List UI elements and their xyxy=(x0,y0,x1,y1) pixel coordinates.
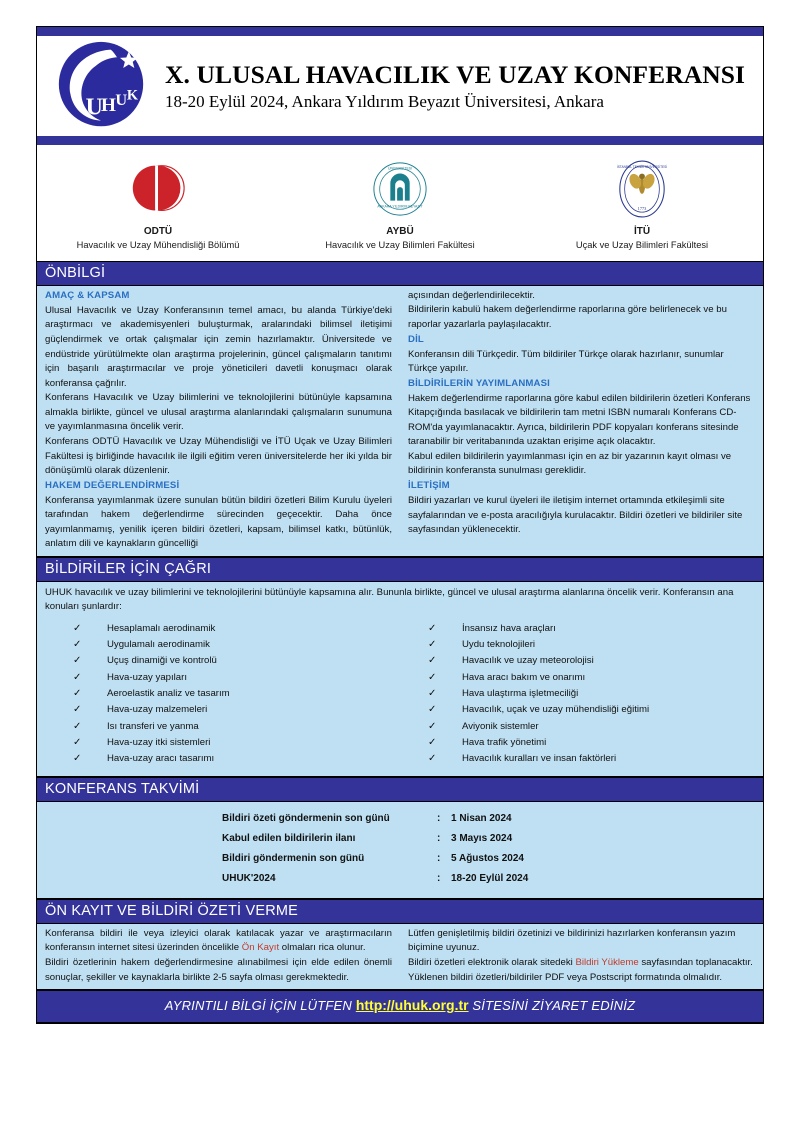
registration-panel: Konferansa bildiri ile veya izleyici ola… xyxy=(37,924,763,990)
masthead-text: X. ULUSAL HAVACILIK VE UZAY KONFERANSI 1… xyxy=(165,60,765,113)
check-icon: ✓ xyxy=(73,719,107,735)
subhead-hakem-degerlendirmesi: HAKEM DEĞERLENDİRMESİ xyxy=(45,479,392,493)
subhead-amac-kapsam: AMAÇ & KAPSAM xyxy=(45,289,392,303)
svg-text:ÜNİVERSİTESİ: ÜNİVERSİTESİ xyxy=(388,166,412,171)
list-item: ✓Uygulamalı aerodinamik xyxy=(73,637,400,653)
svg-text:ANKARA YILDIRIM BEYAZIT: ANKARA YILDIRIM BEYAZIT xyxy=(377,204,423,208)
list-item: ✓Aeroelastik analiz ve tasarım xyxy=(73,686,400,702)
check-icon: ✓ xyxy=(428,751,462,767)
list-item: ✓Hava-uzay itki sistemleri xyxy=(73,735,400,751)
topic-label: Isı transferi ve yanma xyxy=(107,719,199,735)
calendar-colon: : xyxy=(437,813,451,825)
aybu-logo: ANKARA YILDIRIM BEYAZIT ÜNİVERSİTESİ xyxy=(371,158,429,220)
check-icon: ✓ xyxy=(73,621,107,637)
sponsor-aybu: ANKARA YILDIRIM BEYAZIT ÜNİVERSİTESİ AYB… xyxy=(279,158,521,251)
check-icon: ✓ xyxy=(428,702,462,718)
sponsor-desc: Uçak ve Uzay Bilimleri Fakültesi xyxy=(576,239,708,251)
poster-frame: U H U K X. ULUSAL HAVACILIK VE UZAY KONF… xyxy=(36,26,764,1024)
sponsor-abbr: AYBÜ xyxy=(386,226,413,239)
sub-text-a: Bildiri özetleri elektronik olarak sited… xyxy=(408,957,575,968)
check-icon: ✓ xyxy=(428,719,462,735)
check-icon: ✓ xyxy=(73,653,107,669)
yayim-paragraph-2: Kabul edilen bildirilerin yayımlanması i… xyxy=(408,450,755,479)
svg-text:İSTANBUL TEKNİK ÜNİVERSİTESİ: İSTANBUL TEKNİK ÜNİVERSİTESİ xyxy=(617,164,667,169)
calendar-colon: : xyxy=(437,833,451,845)
table-row: Bildiri göndermenin son günü : 5 Ağustos… xyxy=(37,849,763,869)
topic-label: İnsansız hava araçları xyxy=(462,621,556,637)
section-header-registration: ÖN KAYIT VE BİLDİRİ ÖZETİ VERME xyxy=(37,899,763,924)
cfp-topics-right: ✓İnsansız hava araçları ✓Uydu teknolojil… xyxy=(400,621,755,768)
sponsor-itu: 1773 İSTANBUL TEKNİK ÜNİVERSİTESİ İTÜ Uç… xyxy=(521,158,763,251)
footer-suffix: SİTESİNİ ZİYARET EDİNİZ xyxy=(469,998,636,1013)
table-row: Kabul edilen bildirilerin ilanı : 3 Mayı… xyxy=(37,829,763,849)
topic-label: Aviyonik sistemler xyxy=(462,719,539,735)
check-icon: ✓ xyxy=(73,670,107,686)
check-icon: ✓ xyxy=(428,735,462,751)
topic-label: Hava aracı bakım ve onarımı xyxy=(462,670,585,686)
cfp-topic-columns: ✓Hesaplamalı aerodinamik ✓Uygulamalı aer… xyxy=(37,617,763,776)
list-item: ✓Hava ulaştırma işletmeciliği xyxy=(428,686,755,702)
sponsor-desc: Havacılık ve Uzay Bilimleri Fakültesi xyxy=(325,239,474,251)
topic-label: Hava-uzay itki sistemleri xyxy=(107,735,210,751)
list-item: ✓Hava-uzay aracı tasarımı xyxy=(73,751,400,767)
registration-right-column: Lütfen genişletilmiş bildiri özetinizi v… xyxy=(400,924,763,989)
list-item: ✓Hava aracı bakım ve onarımı xyxy=(428,670,755,686)
check-icon: ✓ xyxy=(73,735,107,751)
check-icon: ✓ xyxy=(428,686,462,702)
calendar-value: 3 Mayıs 2024 xyxy=(451,833,763,845)
check-icon: ✓ xyxy=(428,653,462,669)
subhead-iletisim: İLETİŞİM xyxy=(408,479,755,493)
topic-label: Havacılık kuralları ve insan faktörleri xyxy=(462,751,616,767)
odtu-logo xyxy=(129,158,187,220)
conference-subtitle: 18-20 Eylül 2024, Ankara Yıldırım Beyazı… xyxy=(165,92,745,112)
svg-text:1773: 1773 xyxy=(638,206,647,211)
list-item: ✓İnsansız hava araçları xyxy=(428,621,755,637)
list-item: ✓Hava trafik yönetimi xyxy=(428,735,755,751)
reg-text-b: olmaları rica olunur. xyxy=(279,942,365,953)
svg-text:H: H xyxy=(101,95,116,116)
topic-label: Uygulamalı aerodinamik xyxy=(107,637,210,653)
sponsor-abbr: İTÜ xyxy=(634,226,650,239)
calendar-label: Kabul edilen bildirilerin ilanı xyxy=(37,833,437,845)
section-header-onbilgi: ÖNBİLGİ xyxy=(37,261,763,286)
conference-website-link[interactable]: http://uhuk.org.tr xyxy=(356,997,469,1013)
on-kayit-link[interactable]: Ön Kayıt xyxy=(242,942,279,953)
list-item: ✓Hava-uzay yapıları xyxy=(73,670,400,686)
check-icon: ✓ xyxy=(428,637,462,653)
list-item: ✓Hava-uzay malzemeleri xyxy=(73,702,400,718)
masthead-divider-bar xyxy=(37,135,763,146)
top-accent-bar xyxy=(37,27,763,37)
topic-label: Havacılık ve uzay meteorolojisi xyxy=(462,653,594,669)
calendar-value: 5 Ağustos 2024 xyxy=(451,853,763,865)
calendar-value: 1 Nisan 2024 xyxy=(451,813,763,825)
hakem-paragraph-2: Bildirilerin kabulü hakem değerlendirme … xyxy=(408,303,755,332)
calendar-colon: : xyxy=(437,853,451,865)
list-item: ✓Uydu teknolojileri xyxy=(428,637,755,653)
bildiri-yukleme-link[interactable]: Bildiri Yükleme xyxy=(575,957,638,968)
list-item: ✓Havacılık, uçak ve uzay mühendisliği eğ… xyxy=(428,702,755,718)
table-row: Bildiri özeti göndermenin son günü : 1 N… xyxy=(37,809,763,829)
calendar-panel: Bildiri özeti göndermenin son günü : 1 N… xyxy=(37,802,763,899)
submission-paragraph-1: Lütfen genişletilmiş bildiri özetinizi v… xyxy=(408,927,755,956)
onbilgi-right-column: açısından değerlendirilecektir. Bildiril… xyxy=(400,286,763,556)
list-item: ✓Aviyonik sistemler xyxy=(428,719,755,735)
check-icon: ✓ xyxy=(73,751,107,767)
topic-label: Hesaplamalı aerodinamik xyxy=(107,621,215,637)
list-item: ✓Uçuş dinamiği ve kontrolü xyxy=(73,653,400,669)
check-icon: ✓ xyxy=(73,686,107,702)
onbilgi-panel: AMAÇ & KAPSAM Ulusal Havacılık ve Uzay K… xyxy=(37,286,763,557)
footer-prefix: AYRINTILI BİLGİ İÇİN LÜTFEN xyxy=(165,998,356,1013)
registration-left-column: Konferansa bildiri ile veya izleyici ola… xyxy=(37,924,400,989)
topic-label: Havacılık, uçak ve uzay mühendisliği eği… xyxy=(462,702,649,718)
amac-paragraph-2: Konferans Havacılık ve Uzay bilimlerini … xyxy=(45,391,392,435)
calendar-table: Bildiri özeti göndermenin son günü : 1 N… xyxy=(37,802,763,898)
conference-title: X. ULUSAL HAVACILIK VE UZAY KONFERANSI xyxy=(165,60,745,90)
registration-paragraph-2: Bildiri özetlerinin hakem değerlendirmes… xyxy=(45,956,392,985)
uhuk-logo: U H U K xyxy=(37,40,165,132)
subhead-dil: DİL xyxy=(408,333,755,347)
svg-text:U: U xyxy=(115,90,127,109)
poster-page: U H U K X. ULUSAL HAVACILIK VE UZAY KONF… xyxy=(0,0,800,1130)
topic-label: Hava-uzay malzemeleri xyxy=(107,702,207,718)
check-icon: ✓ xyxy=(428,621,462,637)
svg-text:K: K xyxy=(127,87,139,103)
iletisim-paragraph: Bildiri yazarları ve kurul üyeleri ile i… xyxy=(408,494,755,538)
check-icon: ✓ xyxy=(428,670,462,686)
calendar-label: Bildiri özeti göndermenin son günü xyxy=(37,813,437,825)
section-header-calendar: KONFERANS TAKVİMİ xyxy=(37,777,763,802)
list-item: ✓Hesaplamalı aerodinamik xyxy=(73,621,400,637)
yayim-paragraph-1: Hakem değerlendirme raporlarına göre kab… xyxy=(408,392,755,450)
topic-label: Hava-uzay aracı tasarımı xyxy=(107,751,214,767)
hakem-paragraph-continued: açısından değerlendirilecektir. xyxy=(408,289,755,304)
cfp-intro-text: UHUK havacılık ve uzay bilimlerini ve te… xyxy=(37,582,763,617)
sponsor-abbr: ODTÜ xyxy=(144,226,172,239)
sponsor-logo-row: ODTÜ Havacılık ve Uzay Mühendisliği Bölü… xyxy=(37,146,763,261)
sponsor-desc: Havacılık ve Uzay Mühendisliği Bölümü xyxy=(77,239,240,251)
subhead-bildirilerin-yayimlanmasi: BİLDİRİLERİN YAYIMLANMASI xyxy=(408,377,755,391)
check-icon: ✓ xyxy=(73,702,107,718)
registration-paragraph-1: Konferansa bildiri ile veya izleyici ola… xyxy=(45,927,392,956)
footer-bar: AYRINTILI BİLGİ İÇİN LÜTFEN http://uhuk.… xyxy=(37,990,763,1023)
calendar-label: UHUK'2024 xyxy=(37,873,437,885)
cfp-panel: UHUK havacılık ve uzay bilimlerini ve te… xyxy=(37,582,763,776)
calendar-colon: : xyxy=(437,873,451,885)
list-item: ✓Havacılık ve uzay meteorolojisi xyxy=(428,653,755,669)
section-header-cfp: BİLDİRİLER İÇİN ÇAĞRI xyxy=(37,557,763,582)
topic-label: Hava trafik yönetimi xyxy=(462,735,546,751)
hakem-paragraph-1: Konferansa yayımlanmak üzere sunulan büt… xyxy=(45,494,392,552)
cfp-topics-left: ✓Hesaplamalı aerodinamik ✓Uygulamalı aer… xyxy=(45,621,400,768)
sponsor-odtu: ODTÜ Havacılık ve Uzay Mühendisliği Bölü… xyxy=(37,158,279,251)
check-icon: ✓ xyxy=(73,637,107,653)
topic-label: Aeroelastik analiz ve tasarım xyxy=(107,686,230,702)
itu-logo: 1773 İSTANBUL TEKNİK ÜNİVERSİTESİ xyxy=(615,158,669,220)
list-item: ✓Isı transferi ve yanma xyxy=(73,719,400,735)
table-row: UHUK'2024 : 18-20 Eylül 2024 xyxy=(37,869,763,889)
calendar-value: 18-20 Eylül 2024 xyxy=(451,873,763,885)
topic-label: Hava-uzay yapıları xyxy=(107,670,187,686)
masthead: U H U K X. ULUSAL HAVACILIK VE UZAY KONF… xyxy=(37,37,763,135)
list-item: ✓Havacılık kuralları ve insan faktörleri xyxy=(428,751,755,767)
dil-paragraph: Konferansın dili Türkçedir. Tüm bildiril… xyxy=(408,348,755,377)
topic-label: Hava ulaştırma işletmeciliği xyxy=(462,686,578,702)
topic-label: Uçuş dinamiği ve kontrolü xyxy=(107,653,217,669)
amac-paragraph-1: Ulusal Havacılık ve Uzay Konferansının t… xyxy=(45,304,392,391)
submission-paragraph-2: Bildiri özetleri elektronik olarak sited… xyxy=(408,956,755,985)
calendar-label: Bildiri göndermenin son günü xyxy=(37,853,437,865)
topic-label: Uydu teknolojileri xyxy=(462,637,535,653)
onbilgi-left-column: AMAÇ & KAPSAM Ulusal Havacılık ve Uzay K… xyxy=(37,286,400,556)
amac-paragraph-3: Konferans ODTÜ Havacılık ve Uzay Mühendi… xyxy=(45,435,392,479)
